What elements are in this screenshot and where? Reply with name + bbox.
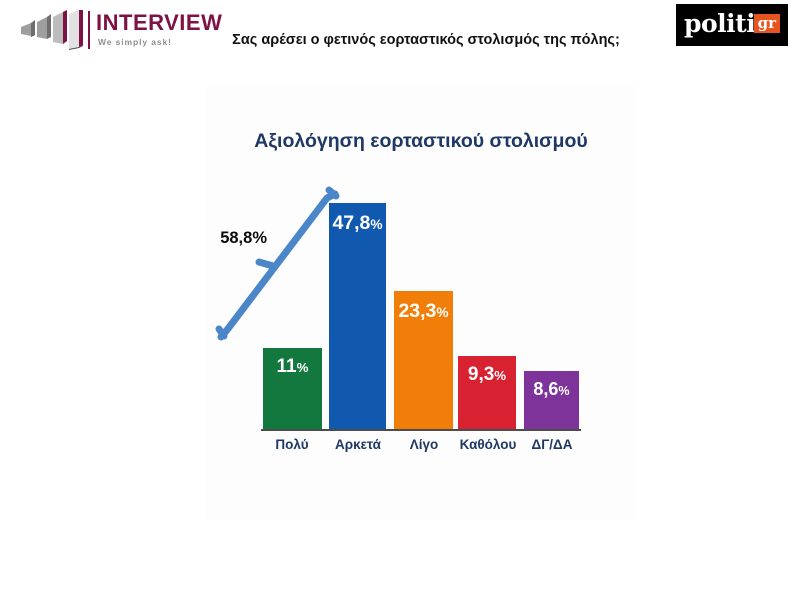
question-headline: Σας αρέσει ο φετινός εορταστικός στολισμ…: [228, 30, 624, 51]
brand-name: INTERVIEW: [96, 12, 222, 34]
x-tick-label-ligo: Λίγο: [389, 436, 459, 454]
brand-tagline: We simply ask!: [98, 37, 172, 47]
politic-gr-logo: politic gr: [676, 4, 788, 46]
bar-value-label: 8,6%: [524, 379, 579, 400]
group-total-label: 58,8%: [195, 228, 267, 248]
bar-value-label: 9,3%: [458, 364, 516, 386]
x-axis-line: [261, 429, 581, 431]
bar-value-label: 11%: [263, 356, 322, 378]
bar-katholou[interactable]: 9,3%: [458, 356, 516, 429]
x-tick-label-dg-da: ΔΓ/ΔΑ: [521, 436, 583, 454]
bar-value-label: 23,3%: [394, 300, 453, 323]
interview-bars-icon: [18, 10, 88, 50]
x-tick-label-arketa: Αρκετά: [322, 436, 394, 454]
bar-value-label: 47,8%: [329, 212, 386, 235]
politic-gr-badge: gr: [754, 14, 780, 33]
bar-poly[interactable]: 11%: [263, 348, 322, 429]
bar-chart: 58,8% 11% 47,8% 23,3% 9,3% 8,6% Πολύ Αρκ…: [207, 160, 635, 460]
bar-arketa[interactable]: 47,8%: [329, 203, 386, 429]
group-brace-icon: [207, 180, 347, 345]
x-tick-label-poly: Πολύ: [257, 436, 327, 454]
slide-canvas: INTERVIEW We simply ask! politic gr Σας …: [0, 0, 796, 589]
bar-dg-da[interactable]: 8,6%: [524, 371, 579, 429]
brand-divider: [88, 11, 90, 49]
chart-title: Αξιολόγηση εορταστικού στολισμού: [207, 128, 635, 154]
x-tick-label-katholou: Καθόλου: [451, 436, 525, 454]
bar-ligo[interactable]: 23,3%: [394, 291, 453, 429]
interview-logo: INTERVIEW We simply ask!: [18, 8, 208, 52]
